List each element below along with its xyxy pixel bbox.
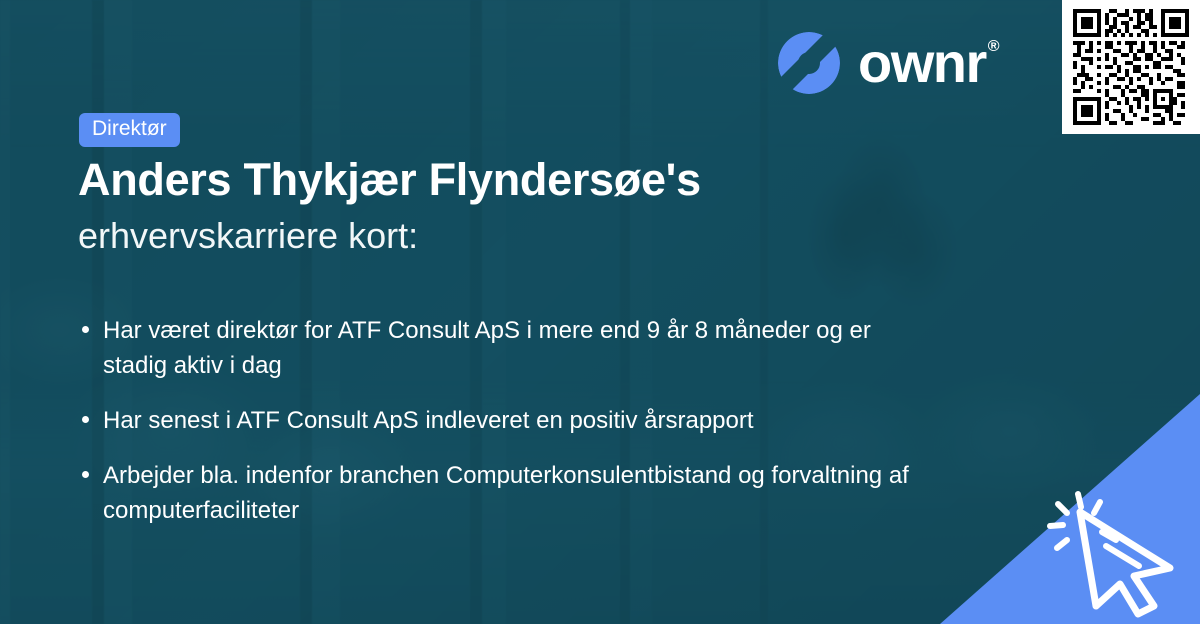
role-badge: Direktør <box>79 113 180 147</box>
list-item: Har været direktør for ATF Consult ApS i… <box>78 313 918 383</box>
qr-code <box>1073 9 1189 125</box>
career-highlights-list: Har været direktør for ATF Consult ApS i… <box>78 313 918 548</box>
business-card-banner: ownr ® <box>0 0 1200 624</box>
qr-code-panel[interactable] <box>1062 0 1200 134</box>
page-subtitle: erhvervskarriere kort: <box>78 214 418 257</box>
logo-word-text: ownr <box>858 35 986 91</box>
list-item: Har senest i ATF Consult ApS indleveret … <box>78 403 918 438</box>
ownr-circle-swirl-logo <box>778 32 840 94</box>
registered-trademark-icon: ® <box>988 39 998 55</box>
ownr-wordmark: ownr ® <box>858 35 998 91</box>
page-title: Anders Thykjær Flyndersøe's <box>78 155 701 205</box>
ownr-logo[interactable]: ownr ® <box>778 32 998 94</box>
list-item: Arbejder bla. indenfor branchen Computer… <box>78 458 918 528</box>
